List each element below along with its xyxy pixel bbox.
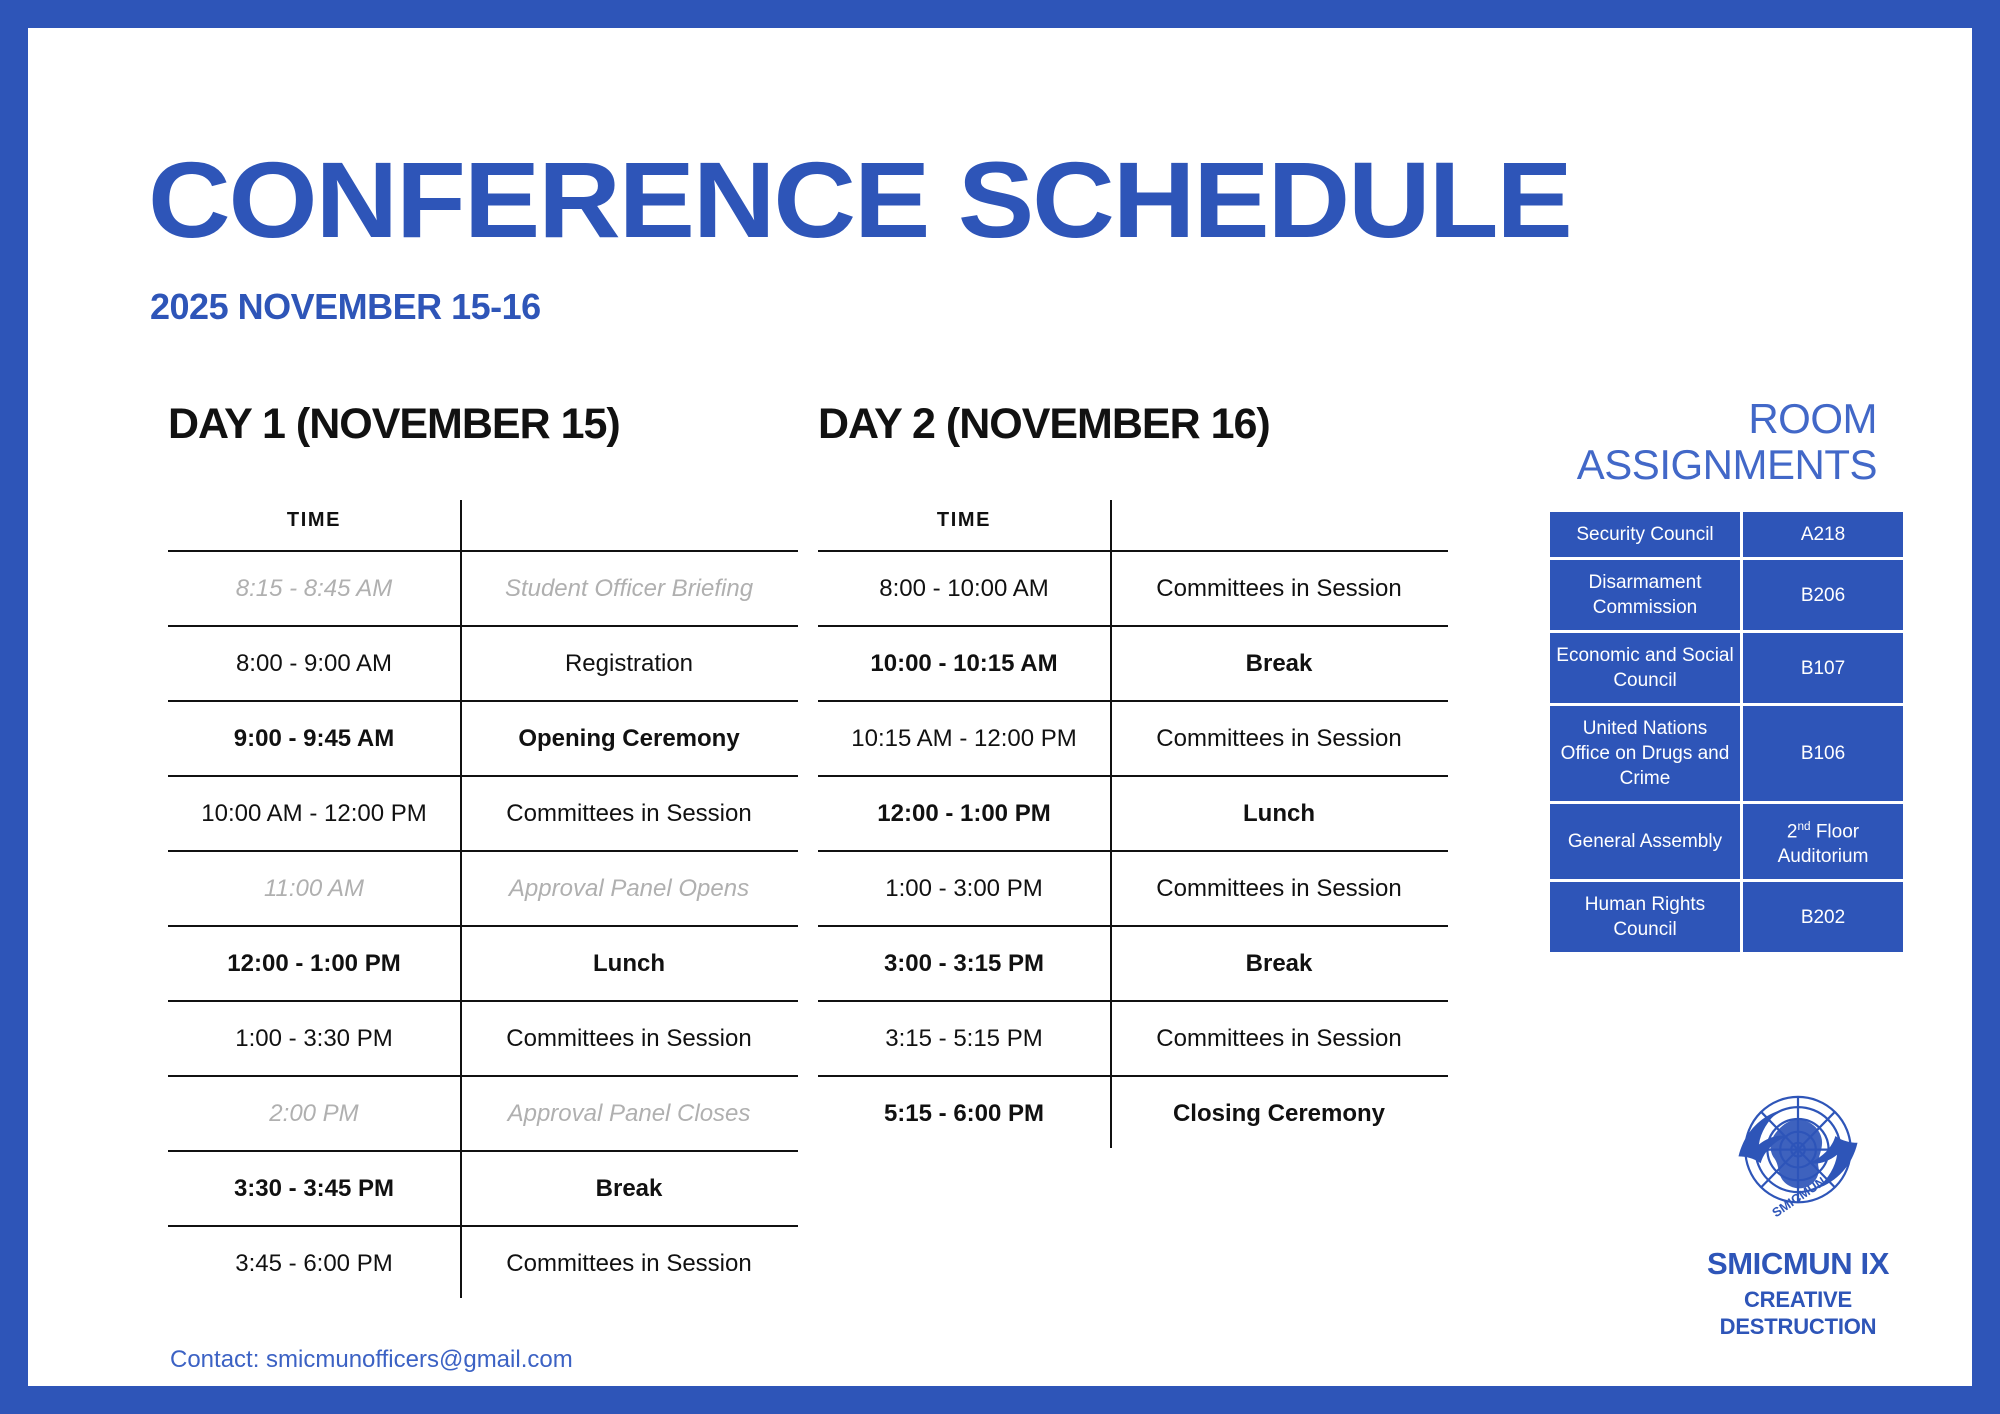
row-time: 11:00 AM [168, 851, 460, 926]
room-assignments-table: Security CouncilA218Disarmament Commissi… [1547, 509, 1897, 955]
table-row: 2:00 PMApproval Panel Closes [168, 1076, 798, 1151]
row-time: 8:00 - 9:00 AM [168, 626, 460, 701]
table-row: 8:00 - 9:00 AMRegistration [168, 626, 798, 701]
smicmun-logo-block: SMICMUN SMICMUN IX CREATIVE DESTRUCTION [1648, 1068, 1948, 1340]
row-event: Committees in Session [460, 1226, 798, 1300]
row-time: 9:00 - 9:45 AM [168, 701, 460, 776]
day1-column-divider [460, 500, 462, 1298]
page-title: CONFERENCE SCHEDULE [148, 146, 1571, 254]
logo-tagline-line2: DESTRUCTION [1720, 1314, 1877, 1339]
logo-tagline-line1: CREATIVE [1744, 1287, 1852, 1312]
room-number: B106 [1743, 706, 1903, 801]
table-row: 12:00 - 1:00 PMLunch [168, 926, 798, 1001]
table-row: 8:15 - 8:45 AMStudent Officer Briefing [168, 551, 798, 626]
table-row: 1:00 - 3:00 PMCommittees in Session [818, 851, 1448, 926]
row-event: Registration [460, 626, 798, 701]
table-row: 3:15 - 5:15 PMCommittees in Session [818, 1001, 1448, 1076]
table-row: 11:00 AMApproval Panel Opens [168, 851, 798, 926]
row-event: Committees in Session [460, 1001, 798, 1076]
room-body: United Nations Office on Drugs and Crime [1550, 706, 1740, 801]
row-event: Committees in Session [1110, 551, 1448, 626]
room-row: General Assembly2nd Floor Auditorium [1550, 804, 1903, 879]
row-event: Break [1110, 926, 1448, 1001]
room-number: 2nd Floor Auditorium [1743, 804, 1903, 879]
row-event: Approval Panel Closes [460, 1076, 798, 1151]
logo-tagline: CREATIVE DESTRUCTION [1648, 1286, 1948, 1340]
contact-line: Contact: smicmunofficers@gmail.com [170, 1346, 573, 1374]
room-number: B107 [1743, 633, 1903, 703]
logo-name: SMICMUN IX [1648, 1246, 1948, 1282]
day1-heading: DAY 1 (NOVEMBER 15) [168, 400, 620, 449]
row-time: 10:15 AM - 12:00 PM [818, 701, 1110, 776]
room-assignments-title: ROOM ASSIGNMENTS [1357, 396, 1877, 488]
row-time: 1:00 - 3:00 PM [818, 851, 1110, 926]
room-body: Human Rights Council [1550, 882, 1740, 952]
row-event: Committees in Session [460, 776, 798, 851]
row-event: Lunch [1110, 776, 1448, 851]
table-row: 10:00 - 10:15 AMBreak [818, 626, 1448, 701]
room-row: United Nations Office on Drugs and Crime… [1550, 706, 1903, 801]
day2-col-time: TIME [818, 490, 1110, 551]
row-time: 10:00 - 10:15 AM [818, 626, 1110, 701]
row-time: 10:00 AM - 12:00 PM [168, 776, 460, 851]
day2-rows: 8:00 - 10:00 AMCommittees in Session10:0… [818, 551, 1448, 1150]
row-event: Committees in Session [1110, 1001, 1448, 1076]
day2-col-event [1110, 490, 1448, 551]
day2-heading: DAY 2 (NOVEMBER 16) [818, 400, 1270, 449]
row-time: 8:15 - 8:45 AM [168, 551, 460, 626]
row-event: Closing Ceremony [1110, 1076, 1448, 1150]
room-body: Security Council [1550, 512, 1740, 557]
day1-rows: 8:15 - 8:45 AMStudent Officer Briefing8:… [168, 551, 798, 1300]
row-event: Opening Ceremony [460, 701, 798, 776]
room-row: Economic and Social CouncilB107 [1550, 633, 1903, 703]
room-title-line1: ROOM [1748, 395, 1877, 442]
row-event: Break [460, 1151, 798, 1226]
row-time: 5:15 - 6:00 PM [818, 1076, 1110, 1150]
room-title-line2: ASSIGNMENTS [1577, 441, 1877, 488]
row-time: 3:30 - 3:45 PM [168, 1151, 460, 1226]
table-row: 10:15 AM - 12:00 PMCommittees in Session [818, 701, 1448, 776]
day1-schedule-table: TIME 8:15 - 8:45 AMStudent Officer Brief… [168, 490, 798, 1300]
day2-column-divider [1110, 500, 1112, 1148]
row-time: 3:00 - 3:15 PM [818, 926, 1110, 1001]
row-time: 1:00 - 3:30 PM [168, 1001, 460, 1076]
day1-col-event [460, 490, 798, 551]
row-time: 2:00 PM [168, 1076, 460, 1151]
row-event: Lunch [460, 926, 798, 1001]
room-body: Disarmament Commission [1550, 560, 1740, 630]
row-time: 12:00 - 1:00 PM [168, 926, 460, 1001]
room-number: B202 [1743, 882, 1903, 952]
table-row: 1:00 - 3:30 PMCommittees in Session [168, 1001, 798, 1076]
table-row: 10:00 AM - 12:00 PMCommittees in Session [168, 776, 798, 851]
table-row: 8:00 - 10:00 AMCommittees in Session [818, 551, 1448, 626]
row-event: Approval Panel Opens [460, 851, 798, 926]
day2-schedule-table: TIME 8:00 - 10:00 AMCommittees in Sessio… [818, 490, 1448, 1150]
table-row: 3:45 - 6:00 PMCommittees in Session [168, 1226, 798, 1300]
table-row: 9:00 - 9:45 AMOpening Ceremony [168, 701, 798, 776]
row-event: Committees in Session [1110, 701, 1448, 776]
room-row: Disarmament CommissionB206 [1550, 560, 1903, 630]
row-event: Break [1110, 626, 1448, 701]
room-body: Economic and Social Council [1550, 633, 1740, 703]
table-row: 3:00 - 3:15 PMBreak [818, 926, 1448, 1001]
poster-page: CONFERENCE SCHEDULE 2025 NOVEMBER 15-16 … [28, 28, 1972, 1386]
table-row: 12:00 - 1:00 PMLunch [818, 776, 1448, 851]
row-time: 12:00 - 1:00 PM [818, 776, 1110, 851]
room-number: A218 [1743, 512, 1903, 557]
room-number: B206 [1743, 560, 1903, 630]
room-row: Human Rights CouncilB202 [1550, 882, 1903, 952]
room-row: Security CouncilA218 [1550, 512, 1903, 557]
row-event: Student Officer Briefing [460, 551, 798, 626]
room-body: General Assembly [1550, 804, 1740, 879]
row-time: 3:45 - 6:00 PM [168, 1226, 460, 1300]
table-row: 5:15 - 6:00 PMClosing Ceremony [818, 1076, 1448, 1150]
row-event: Committees in Session [1110, 851, 1448, 926]
smicmun-un-globe-logo-icon: SMICMUN [1713, 1068, 1883, 1238]
day1-col-time: TIME [168, 490, 460, 551]
room-rows: Security CouncilA218Disarmament Commissi… [1550, 512, 1903, 952]
table-row: 3:30 - 3:45 PMBreak [168, 1151, 798, 1226]
row-time: 8:00 - 10:00 AM [818, 551, 1110, 626]
row-time: 3:15 - 5:15 PM [818, 1001, 1110, 1076]
page-subtitle: 2025 NOVEMBER 15-16 [150, 286, 541, 328]
